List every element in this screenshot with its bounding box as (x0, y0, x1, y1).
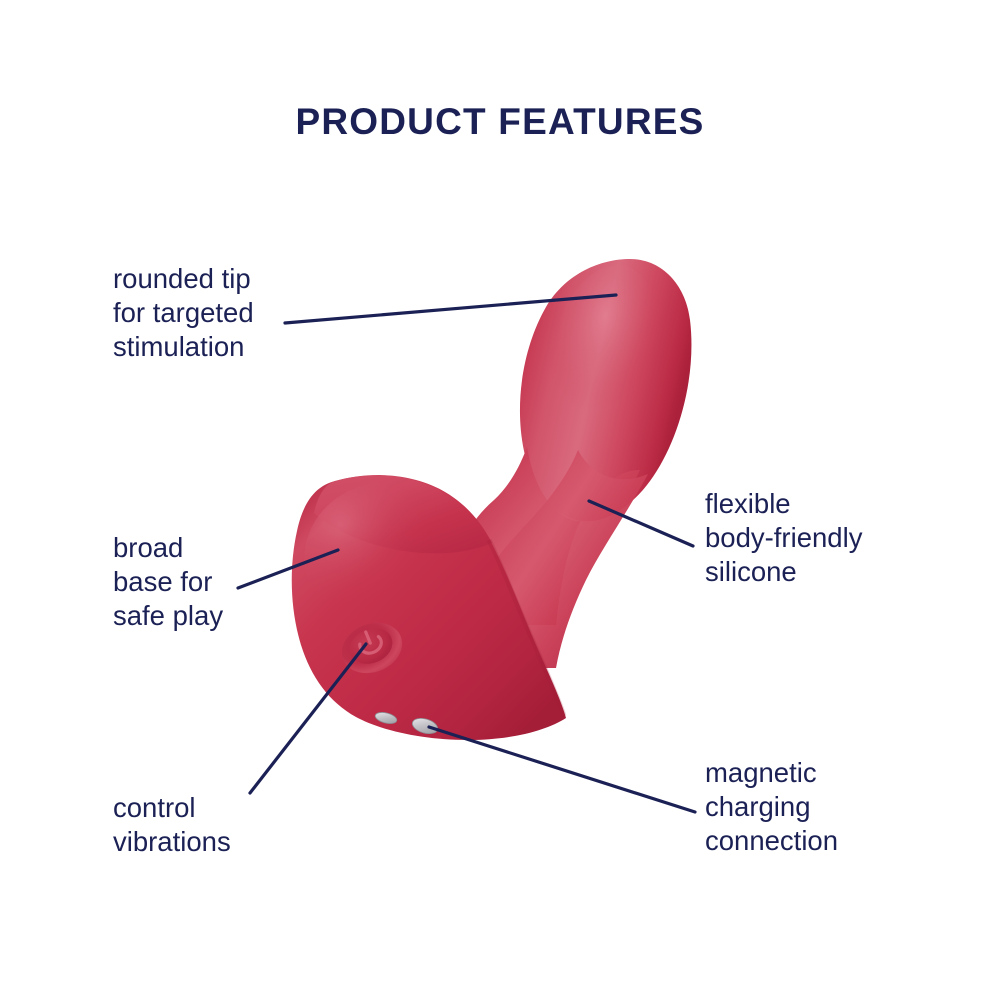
callout-line: vibrations (113, 825, 231, 859)
callout-line: silicone (705, 555, 862, 589)
callout-line: control (113, 791, 231, 825)
callout-line: stimulation (113, 330, 254, 364)
callout-line: broad (113, 531, 223, 565)
callout-line: connection (705, 824, 838, 858)
callout-line: magnetic (705, 756, 838, 790)
callout-line: charging (705, 790, 838, 824)
callout-line: safe play (113, 599, 223, 633)
callout-magnetic-charging: magnetic charging connection (705, 756, 838, 858)
callout-flexible-silicone: flexible body-friendly silicone (705, 487, 862, 589)
product-body (287, 255, 691, 740)
callout-line: for targeted (113, 296, 254, 330)
product-features-infographic: PRODUCT FEATURES (0, 0, 1000, 1000)
callout-broad-base: broad base for safe play (113, 531, 223, 633)
callout-line: rounded tip (113, 262, 254, 296)
callout-rounded-tip: rounded tip for targeted stimulation (113, 262, 254, 364)
callout-control-vibrations: control vibrations (113, 791, 231, 859)
callout-line: body-friendly (705, 521, 862, 555)
callout-line: flexible (705, 487, 862, 521)
callout-line: base for (113, 565, 223, 599)
